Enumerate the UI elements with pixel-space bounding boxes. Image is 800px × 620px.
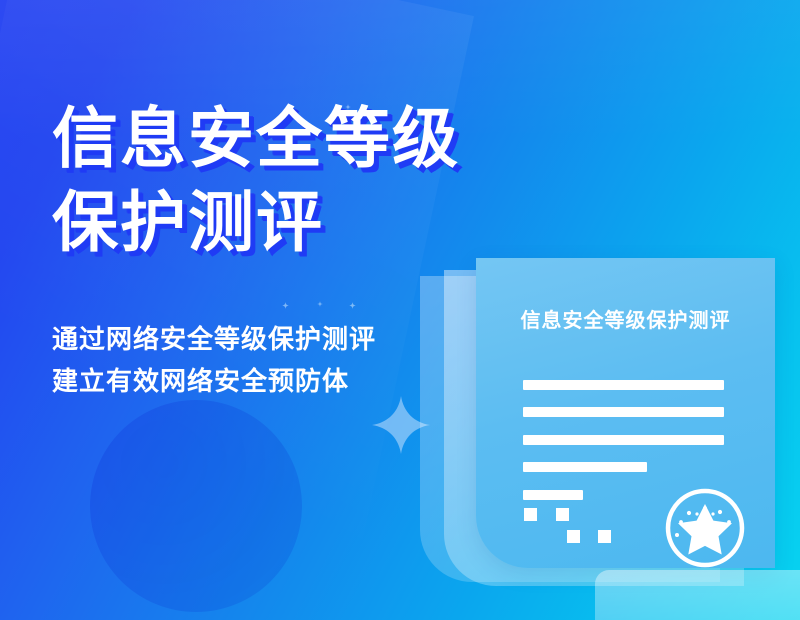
star-seal-icon (664, 487, 746, 569)
certificate-square-mark (567, 530, 580, 543)
certificate-illustration: 信息安全等级保护测评 (0, 0, 800, 620)
certificate-text-line (523, 490, 583, 500)
certificate-text-line (523, 380, 724, 390)
certificate-text-line (523, 435, 724, 445)
certificate-title: 信息安全等级保护测评 (476, 304, 775, 333)
certificate-square-mark (524, 508, 537, 521)
certificate-bottom-band (595, 570, 800, 620)
certificate-square-mark (556, 508, 569, 521)
promo-banner: 信息安全等级 保护测评 通过网络安全等级保护测评 建立有效网络安全预防体 信息安… (0, 0, 800, 620)
certificate-text-line (523, 407, 724, 417)
certificate-square-mark (598, 530, 611, 543)
certificate-text-line (523, 462, 647, 472)
